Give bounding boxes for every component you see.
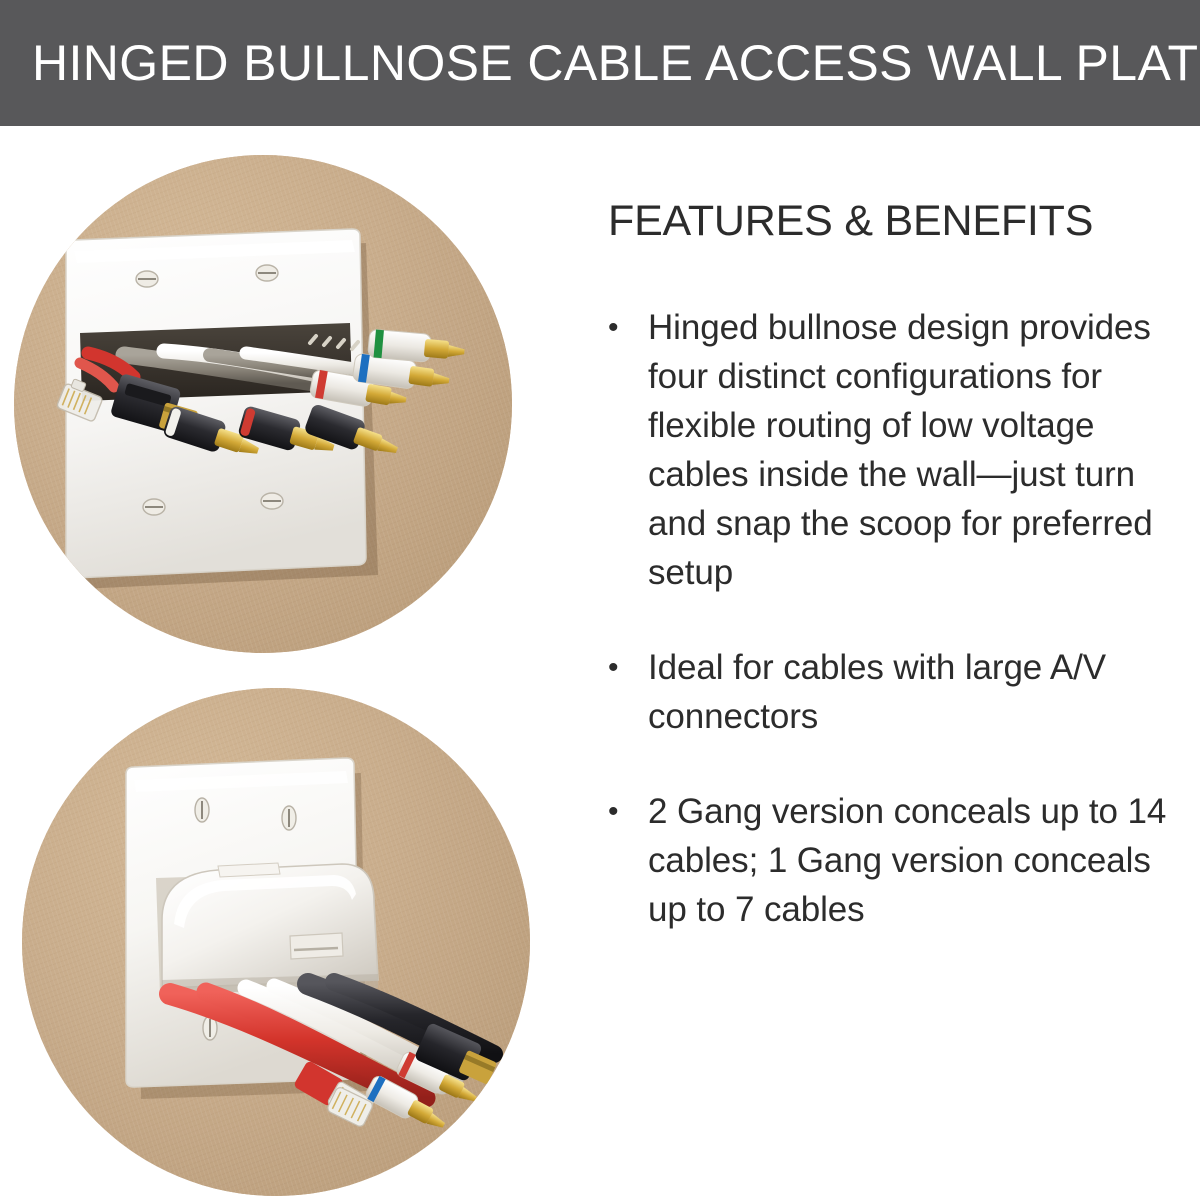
page-title: HINGED BULLNOSE CABLE ACCESS WALL PLATES — [0, 38, 1200, 88]
list-item: • 2 Gang version conceals up to 14 cable… — [604, 787, 1182, 934]
wall-plate-illustration-top — [14, 155, 512, 653]
product-photo-open-slot — [14, 155, 512, 653]
list-item: • Ideal for cables with large A/V connec… — [604, 643, 1182, 741]
infographic-page: HINGED BULLNOSE CABLE ACCESS WALL PLATES — [0, 0, 1200, 1200]
features-heading: FEATURES & BENEFITS — [608, 198, 1182, 245]
bullet-text: Ideal for cables with large A/V connecto… — [648, 643, 1182, 741]
list-item: • Hinged bullnose design provides four d… — [604, 303, 1182, 597]
header-banner: HINGED BULLNOSE CABLE ACCESS WALL PLATES — [0, 0, 1200, 126]
bullet-text: 2 Gang version conceals up to 14 cables;… — [648, 787, 1182, 934]
bullet-point-icon: • — [604, 643, 648, 692]
bullet-point-icon: • — [604, 787, 648, 836]
product-photo-closed-scoop — [22, 688, 530, 1196]
features-panel: FEATURES & BENEFITS • Hinged bullnose de… — [604, 198, 1182, 934]
wall-plate-illustration-bottom — [22, 688, 530, 1196]
bullet-point-icon: • — [604, 303, 648, 352]
features-bullet-list: • Hinged bullnose design provides four d… — [604, 303, 1182, 934]
bullet-text: Hinged bullnose design provides four dis… — [648, 303, 1182, 597]
